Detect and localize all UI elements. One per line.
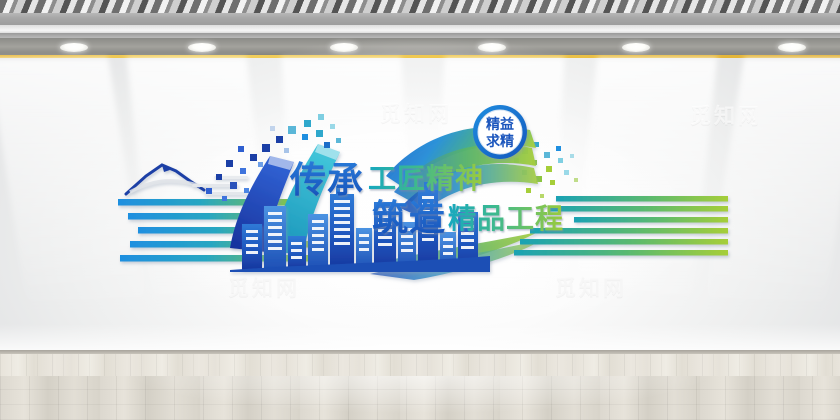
- floor-skirting: [0, 354, 840, 376]
- ceiling-spotlight: [60, 43, 88, 52]
- headline-line2-secondary: 精品工程: [448, 202, 564, 235]
- badge-line1: 精益: [486, 116, 514, 133]
- scene-canvas: 传承 工匠精神 筑造 精品工程 精益 求精 觅知网 觅知网 觅知网 觅知网: [0, 0, 840, 420]
- mountain-line: [126, 165, 256, 195]
- culture-wall-artwork[interactable]: 传承 工匠精神 筑造 精品工程 精益 求精: [118, 96, 738, 286]
- wood-floor: [0, 376, 840, 420]
- headline-line2-primary: 筑造: [372, 198, 446, 239]
- ceiling-spotlight: [622, 43, 650, 52]
- quality-badge: 精益 求精: [473, 105, 527, 159]
- badge-line2: 求精: [486, 133, 514, 150]
- ceiling-spotlight: [330, 43, 358, 52]
- wall-floor-halo: [0, 324, 840, 350]
- ceiling-slat-panel: [0, 0, 840, 13]
- ceiling-spotlight: [478, 43, 506, 52]
- ceiling-spotlight: [188, 43, 216, 52]
- ceiling-spotlight: [778, 43, 806, 52]
- headline-line1-secondary: 工匠精神: [368, 162, 484, 195]
- headline-line1-primary: 传承: [289, 160, 364, 201]
- ceiling-band-upper: [0, 13, 840, 25]
